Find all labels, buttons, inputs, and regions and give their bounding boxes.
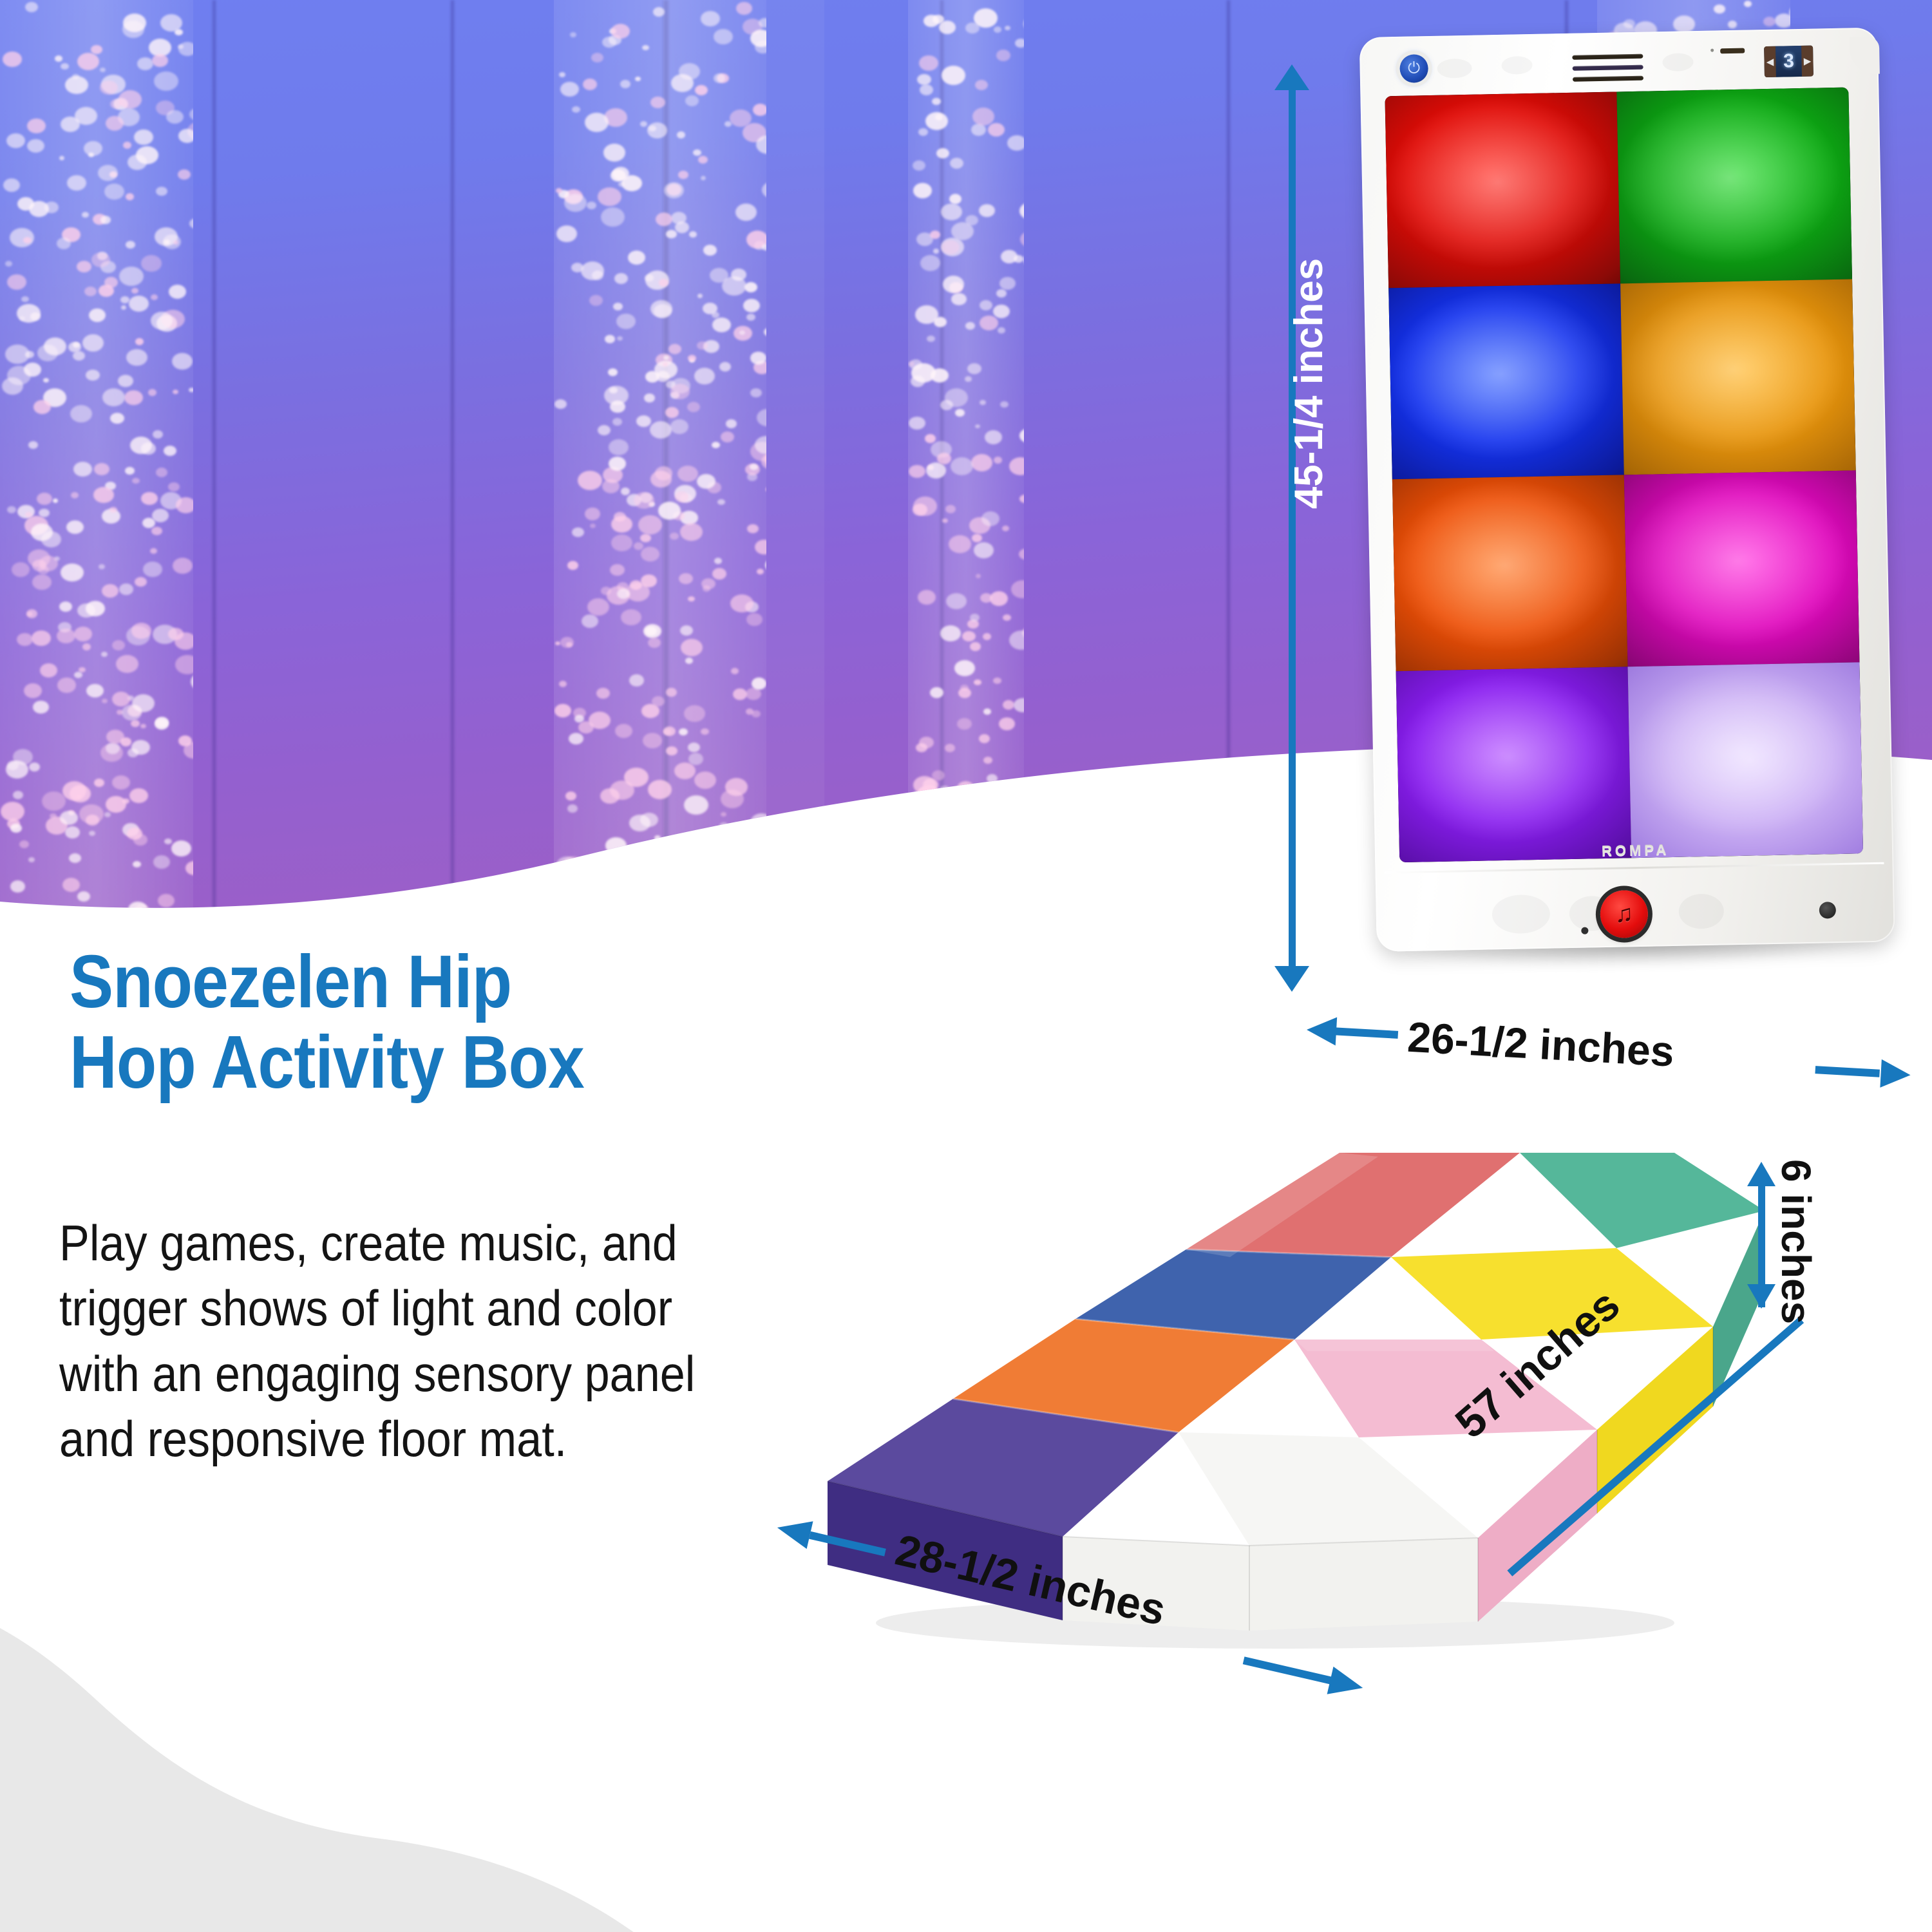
title-line-1: Snoezelen Hip <box>70 940 511 1023</box>
rompa-brand-emboss: ROMPA <box>1602 842 1670 860</box>
arrow-up-icon <box>1747 1162 1776 1186</box>
power-button[interactable]: ⏻ <box>1399 54 1428 83</box>
vent-slit <box>1720 48 1745 54</box>
infographic-canvas: Snoezelen Hip Hop Activity Box Play game… <box>0 0 1932 1932</box>
next-program-icon[interactable]: ▶ <box>1801 46 1814 77</box>
arrow-down-icon <box>1747 1284 1776 1309</box>
arrow-shaft-left <box>1334 1027 1399 1039</box>
title-line-2: Hop Activity Box <box>70 1022 920 1103</box>
arrow-shaft-left <box>809 1531 886 1557</box>
arrow-right-icon <box>1327 1667 1367 1702</box>
panel-corner-notch <box>1850 37 1880 75</box>
panel-height-arrow <box>1278 64 1304 992</box>
led-cell-purple[interactable] <box>1396 667 1632 862</box>
arrow-right-icon <box>1880 1059 1911 1089</box>
panel-width-arrow: 26-1/2 inches <box>1300 998 1915 1103</box>
program-number: 3 <box>1776 46 1802 77</box>
led-cell-lavender[interactable] <box>1628 662 1864 858</box>
led-cell-orange[interactable] <box>1392 475 1628 670</box>
product-description: Play games, create music, and trigger sh… <box>59 1211 732 1472</box>
panel-ridge <box>1385 862 1884 874</box>
panel-height-label: 45-1/4 inches <box>1286 258 1332 509</box>
sensory-panel-product: ⏻ ◀ 3 ▶ <box>1359 27 1913 1003</box>
led-color-screen[interactable] <box>1385 88 1863 863</box>
arrow-left-icon <box>1306 1016 1337 1045</box>
program-display[interactable]: ◀ 3 ▶ <box>1764 46 1814 77</box>
panel-width-label: 26-1/2 inches <box>1406 1012 1676 1076</box>
arrow-down-icon <box>1274 966 1309 992</box>
led-cell-red[interactable] <box>1385 91 1620 287</box>
led-cell-green[interactable] <box>1616 88 1852 283</box>
led-cell-amber[interactable] <box>1620 279 1856 475</box>
music-button[interactable]: ♫ <box>1600 890 1648 938</box>
indicator-dot-icon <box>1581 927 1588 934</box>
arrow-shaft-right <box>1243 1656 1339 1685</box>
arrow-left-icon <box>774 1514 813 1549</box>
prev-program-icon[interactable]: ◀ <box>1764 46 1776 77</box>
music-note-icon: ♫ <box>1615 902 1633 927</box>
arrow-shaft-right <box>1815 1066 1880 1077</box>
arrow-shaft <box>1289 81 1296 976</box>
mat-thickness-label: 6 inches <box>1772 1159 1820 1324</box>
power-icon: ⏻ <box>1408 61 1420 76</box>
speaker-grille <box>1572 54 1643 84</box>
led-cell-blue[interactable] <box>1388 283 1624 479</box>
panel-housing: ⏻ ◀ 3 ▶ <box>1359 28 1895 952</box>
page-title: Snoezelen Hip Hop Activity Box <box>70 942 920 1103</box>
sensor-dot-icon <box>1710 49 1714 52</box>
led-cell-grid <box>1385 88 1863 863</box>
decorative-blob <box>0 1591 850 1932</box>
led-cell-magenta[interactable] <box>1624 470 1860 666</box>
audio-jack-icon <box>1819 902 1836 918</box>
